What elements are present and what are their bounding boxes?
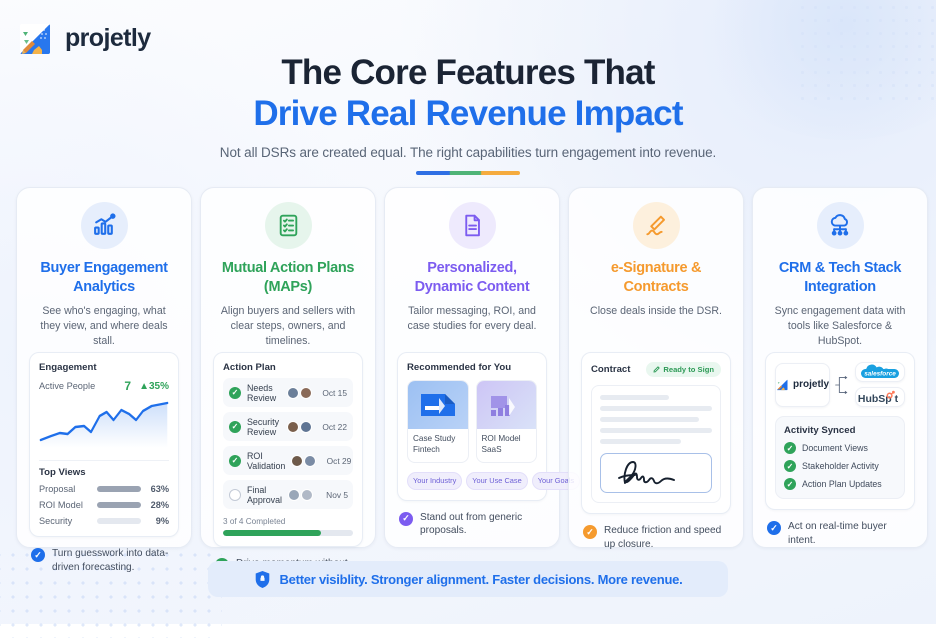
tag-row: Your Industry Your Use Case Your Goals xyxy=(407,472,537,490)
headline-subtitle: Not all DSRs are created equal. The righ… xyxy=(0,145,936,160)
salesforce-logo-icon: salesforce xyxy=(857,363,903,382)
card-description: Close deals inside the DSR. xyxy=(588,304,724,350)
card-footer: ✓ Act on real-time buyer intent. xyxy=(765,520,915,547)
card-description: See who's engaging, what they view, and … xyxy=(29,304,179,350)
summary-banner-text: Better visiblity. Stronger alignment. Fa… xyxy=(280,572,683,587)
analytics-chart-icon xyxy=(81,202,128,249)
bar-track xyxy=(97,502,141,508)
contract-header: Contract Ready to Sign xyxy=(591,362,721,377)
widget-title: Engagement xyxy=(39,362,169,373)
top-view-row: Security 9% xyxy=(39,516,169,526)
check-icon: ✓ xyxy=(767,521,781,535)
metric-delta: ▲35% xyxy=(139,381,169,392)
feature-card-buyer-engagement-analytics[interactable]: Buyer Engagement Analytics See who's eng… xyxy=(16,187,192,548)
activity-synced-card: Activity Synced ✓ Document Views ✓ Stake… xyxy=(775,416,905,499)
widget-title: Recommended for You xyxy=(407,362,537,373)
hubspot-node: HubSp t xyxy=(855,387,905,407)
thumbnail-line-1: ROI Model xyxy=(482,434,532,445)
task-name: Needs Review xyxy=(247,383,281,403)
check-icon: ✓ xyxy=(399,512,413,526)
tag-your-industry[interactable]: Your Industry xyxy=(407,472,462,490)
sync-item: ✓ Stakeholder Activity xyxy=(784,460,896,472)
avatar xyxy=(287,387,299,399)
check-icon: ✓ xyxy=(583,525,597,539)
task-date: Nov 5 xyxy=(319,490,348,500)
projetly-logo-icon xyxy=(776,378,789,391)
task-name: ROI Validation xyxy=(247,451,285,471)
card-footer: ✓ Stand out from generic proposals. xyxy=(397,511,547,538)
signature-field[interactable] xyxy=(600,453,712,493)
skeleton-line xyxy=(600,439,681,444)
avatar xyxy=(300,387,312,399)
avatar xyxy=(300,421,312,433)
card-title: e-Signature & Contracts xyxy=(581,259,731,297)
bar-track xyxy=(97,486,141,492)
recommended-content-widget: Recommended for You Case Stud xyxy=(397,352,547,501)
progress-label: 3 of 4 Completed xyxy=(223,517,353,526)
card-description: Sync engagement data with tools like Sal… xyxy=(765,304,915,350)
avatar-group xyxy=(288,489,313,501)
active-people-row: Active People 7 ▲35% xyxy=(39,379,169,393)
brand-logo: projetly xyxy=(18,20,151,56)
task-row[interactable]: ✓ Needs Review Oct 15 xyxy=(223,378,353,407)
task-row[interactable]: ✓ Security Review Oct 22 xyxy=(223,412,353,441)
top-views-title: Top Views xyxy=(39,467,169,478)
status-badge-label: Ready to Sign xyxy=(663,365,714,374)
connector-arrows-icon xyxy=(835,363,850,407)
handwritten-signature-icon xyxy=(613,458,699,488)
content-thumbnail-roi-model[interactable]: ROI Model SaaS xyxy=(476,380,538,463)
avatar-group xyxy=(291,455,316,467)
headline-line-2: Drive Real Revenue Impact xyxy=(0,93,936,136)
source-label: projetly xyxy=(793,379,829,390)
task-date: Oct 15 xyxy=(318,388,347,398)
contract-widget: Contract Ready to Sign xyxy=(581,352,731,514)
headline-line-1: The Core Features That xyxy=(0,52,936,93)
thumbnail-row: Case Study Fintech xyxy=(407,380,537,463)
card-title: Personalized, Dynamic Content xyxy=(397,259,547,297)
widget-divider xyxy=(39,460,169,461)
accent-divider xyxy=(416,171,520,175)
widget-title: Action Plan xyxy=(223,362,353,373)
projetly-logo-icon xyxy=(18,20,54,56)
bar-label: Proposal xyxy=(39,484,91,494)
svg-text:salesforce: salesforce xyxy=(864,370,896,377)
metric-label: Active People xyxy=(39,381,95,391)
avatar xyxy=(288,489,300,501)
engagement-sparkline-chart xyxy=(39,396,169,448)
document-lines-icon xyxy=(449,202,496,249)
card-footer-text: Turn guesswork into data-driven forecast… xyxy=(52,547,177,574)
task-row[interactable]: ✓ ROI Validation Oct 29 xyxy=(223,446,353,475)
task-name: Final Approval xyxy=(247,485,282,505)
sync-item-label: Action Plan Updates xyxy=(802,479,882,489)
card-description: Tailor messaging, ROI, and case studies … xyxy=(397,304,547,350)
integration-diagram: projetly xyxy=(775,362,905,407)
infographic-page: projetly The Core Features That Drive Re… xyxy=(0,0,936,624)
pen-icon xyxy=(653,366,660,373)
feature-card-personalized-dynamic-content[interactable]: Personalized, Dynamic Content Tailor mes… xyxy=(384,187,560,548)
card-title: Buyer Engagement Analytics xyxy=(29,259,179,297)
thumbnail-line-2: Fintech xyxy=(413,445,463,456)
skeleton-line xyxy=(600,428,712,433)
check-icon: ✓ xyxy=(784,460,796,472)
sync-item: ✓ Action Plan Updates xyxy=(784,478,896,490)
empty-circle-icon xyxy=(229,489,241,501)
card-footer-text: Stand out from generic proposals. xyxy=(420,511,545,538)
checklist-document-icon xyxy=(265,202,312,249)
brand-name: projetly xyxy=(65,24,151,53)
task-row[interactable]: Final Approval Nov 5 xyxy=(223,480,353,509)
card-title: Mutual Action Plans (MAPs) xyxy=(213,259,363,297)
card-footer-text: Reduce friction and speed up closure. xyxy=(604,524,729,551)
avatar-group xyxy=(287,387,312,399)
page-headline: The Core Features That Drive Real Revenu… xyxy=(0,52,936,175)
thumbnail-caption: Case Study Fintech xyxy=(408,429,468,462)
check-icon: ✓ xyxy=(229,387,241,399)
widget-title: Contract xyxy=(591,364,630,375)
feature-card-crm-tech-stack-integration[interactable]: CRM & Tech Stack Integration Sync engage… xyxy=(752,187,928,548)
bar-percent: 9% xyxy=(147,516,169,526)
thumbnail-line-2: SaaS xyxy=(482,445,532,456)
check-icon: ✓ xyxy=(784,442,796,454)
status-badge: Ready to Sign xyxy=(646,362,721,377)
progress-bar xyxy=(223,530,353,536)
sync-item-label: Document Views xyxy=(802,443,868,453)
metric-value: 7 xyxy=(124,379,131,393)
feature-card-esignature-contracts[interactable]: e-Signature & Contracts Close deals insi… xyxy=(568,187,744,548)
hubspot-logo-icon: HubSp t xyxy=(856,390,904,405)
integration-widget: projetly xyxy=(765,352,915,510)
thumbnail-image xyxy=(408,381,468,429)
tag-your-use-case[interactable]: Your Use Case xyxy=(466,472,527,490)
check-icon: ✓ xyxy=(784,478,796,490)
thumbnail-line-1: Case Study xyxy=(413,434,463,445)
check-icon: ✓ xyxy=(31,548,45,562)
avatar xyxy=(287,421,299,433)
bar-percent: 28% xyxy=(147,500,169,510)
salesforce-node: salesforce xyxy=(855,362,905,382)
summary-banner: Better visiblity. Stronger alignment. Fa… xyxy=(208,561,728,597)
action-plan-widget: Action Plan ✓ Needs Review Oct 15 ✓ Secu… xyxy=(213,352,363,547)
avatar xyxy=(304,455,316,467)
projetly-source-node: projetly xyxy=(775,363,830,407)
task-date: Oct 29 xyxy=(322,456,351,466)
bar-track xyxy=(97,518,141,524)
card-description: Align buyers and sellers with clear step… xyxy=(213,304,363,350)
cloud-network-icon xyxy=(817,202,864,249)
card-footer: ✓ Reduce friction and speed up closure. xyxy=(581,524,731,551)
check-icon: ✓ xyxy=(229,421,241,433)
bar-label: Security xyxy=(39,516,91,526)
feature-card-row: Buyer Engagement Analytics See who's eng… xyxy=(16,187,928,548)
content-thumbnail-case-study[interactable]: Case Study Fintech xyxy=(407,380,469,463)
thumbnail-caption: ROI Model SaaS xyxy=(477,429,537,462)
sync-title: Activity Synced xyxy=(784,425,896,436)
skeleton-line xyxy=(600,395,669,400)
thumbnail-image xyxy=(477,381,537,429)
task-name: Security Review xyxy=(247,417,281,437)
card-footer-text: Act on real-time buyer intent. xyxy=(788,520,913,547)
bar-label: ROI Model xyxy=(39,500,91,510)
signature-pen-icon xyxy=(633,202,680,249)
feature-card-mutual-action-plans[interactable]: Mutual Action Plans (MAPs) Align buyers … xyxy=(200,187,376,548)
top-view-row: Proposal 63% xyxy=(39,484,169,494)
shield-icon xyxy=(254,570,271,589)
card-footer: ✓ Turn guesswork into data-driven foreca… xyxy=(29,547,179,574)
contract-document xyxy=(591,385,721,503)
skeleton-line xyxy=(600,406,712,411)
avatar-group xyxy=(287,421,312,433)
card-title: CRM & Tech Stack Integration xyxy=(765,259,915,297)
check-icon: ✓ xyxy=(229,455,241,467)
sync-item-label: Stakeholder Activity xyxy=(802,461,879,471)
engagement-widget: Engagement Active People 7 ▲35% xyxy=(29,352,179,537)
avatar xyxy=(301,489,313,501)
top-view-row: ROI Model 28% xyxy=(39,500,169,510)
avatar xyxy=(291,455,303,467)
bar-percent: 63% xyxy=(147,484,169,494)
skeleton-line xyxy=(600,417,699,422)
task-date: Oct 22 xyxy=(318,422,347,432)
sync-item: ✓ Document Views xyxy=(784,442,896,454)
